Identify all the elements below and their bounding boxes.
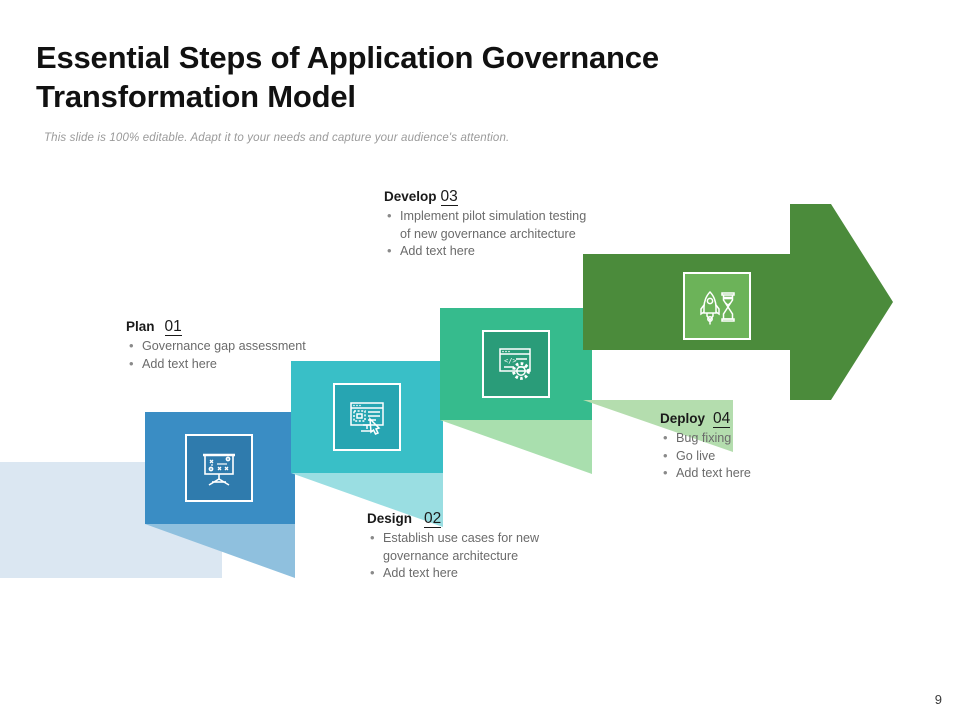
step-heading-design: Design02 [367, 510, 567, 528]
list-item: Add text here [384, 243, 594, 261]
step-text-deploy: Deploy04 Bug fixing Go live Add text her… [660, 410, 850, 483]
code-gear-icon: </> [482, 330, 550, 398]
page-title: Essential Steps of Application Governanc… [36, 38, 736, 116]
step-number-plan: 01 [165, 318, 182, 336]
step-text-design: Design02 Establish use cases for new gov… [367, 510, 567, 583]
step-block-develop-fold [440, 420, 592, 474]
step-number-design: 02 [424, 510, 441, 528]
step-label-plan: Plan [126, 319, 155, 334]
list-item: Establish use cases for new governance a… [367, 530, 567, 565]
step-label-deploy: Deploy [660, 411, 705, 426]
step-heading-develop: Develop03 [384, 188, 594, 206]
list-item: Go live [660, 448, 850, 466]
step-label-design: Design [367, 511, 412, 526]
list-item: Governance gap assessment [126, 338, 306, 356]
page-number: 9 [935, 692, 942, 707]
step-block-design[interactable] [291, 361, 443, 473]
step-block-deploy[interactable] [583, 204, 893, 400]
step-number-deploy: 04 [713, 410, 730, 428]
step-number-develop: 03 [441, 188, 458, 206]
step-label-develop: Develop [384, 189, 437, 204]
page-subtitle: This slide is 100% editable. Adapt it to… [44, 131, 764, 146]
step-text-develop: Develop03 Implement pilot simulation tes… [384, 188, 594, 261]
list-item: Add text here [660, 465, 850, 483]
strategy-board-icon [185, 434, 253, 502]
step-bullets-deploy: Bug fixing Go live Add text here [660, 430, 850, 483]
monitor-design-icon [333, 383, 401, 451]
list-item: Add text here [126, 356, 306, 374]
step-bullets-design: Establish use cases for new governance a… [367, 530, 567, 583]
step-heading-deploy: Deploy04 [660, 410, 850, 428]
step-block-develop[interactable]: </> [440, 308, 592, 420]
list-item: Bug fixing [660, 430, 850, 448]
step-bullets-develop: Implement pilot simulation testing of ne… [384, 208, 594, 261]
step-block-plan-fold [145, 524, 295, 578]
step-text-plan: Plan01 Governance gap assessment Add tex… [126, 318, 306, 373]
rocket-hourglass-icon [683, 272, 751, 340]
step-block-plan[interactable] [145, 412, 295, 524]
step-heading-plan: Plan01 [126, 318, 306, 336]
list-item: Implement pilot simulation testing of ne… [384, 208, 594, 243]
step-bullets-plan: Governance gap assessment Add text here [126, 338, 306, 373]
slide-canvas: Essential Steps of Application Governanc… [0, 0, 960, 720]
svg-text:</>: </> [504, 357, 517, 365]
list-item: Add text here [367, 565, 567, 583]
